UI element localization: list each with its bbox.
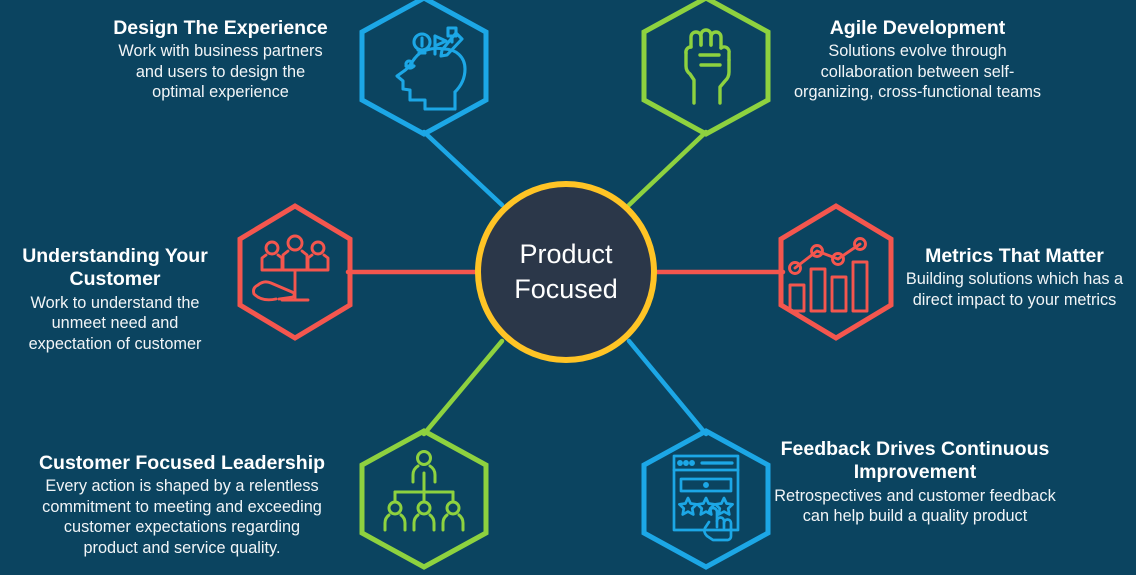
node-description: Building solutions which has a direct im… <box>893 269 1136 310</box>
label-agile-development[interactable]: Agile Development Solutions evolve throu… <box>775 17 1060 103</box>
node-description: Every action is shaped by a relentless c… <box>12 476 352 558</box>
people-in-hand-icon <box>254 236 329 300</box>
node-description: Solutions evolve through collaboration b… <box>775 41 1060 103</box>
hub-label-line-1: Product <box>519 239 613 269</box>
org-chart-icon <box>385 452 463 531</box>
hexagon-metrics-that-matter[interactable] <box>781 206 891 338</box>
connector-feedback-drives-continuous-improvement <box>629 341 706 434</box>
hexagon-outline <box>362 0 486 134</box>
label-understanding-your-customer[interactable]: Understanding Your Customer Work to unde… <box>0 245 230 354</box>
infographic-canvas: Product Focused Design The Experience Wo… <box>0 0 1136 575</box>
label-metrics-that-matter[interactable]: Metrics That Matter Building solutions w… <box>893 245 1136 310</box>
connector-agile-development <box>629 132 706 205</box>
node-title: Customer Focused Leadership <box>12 452 352 475</box>
label-customer-focused-leadership[interactable]: Customer Focused Leadership Every action… <box>12 452 352 559</box>
hub-circle <box>478 184 654 360</box>
hexagon-customer-focused-leadership[interactable] <box>362 431 486 567</box>
hexagon-feedback-drives-continuous-improvement[interactable] <box>644 431 768 567</box>
hub-label-line-2: Focused <box>514 274 618 304</box>
hub-node[interactable]: Product Focused <box>478 184 654 360</box>
raised-fist-icon <box>686 30 729 103</box>
node-description: Work to understand the unmeet need and e… <box>0 293 230 355</box>
hexagon-understanding-your-customer[interactable] <box>240 206 350 338</box>
node-title: Agile Development <box>775 17 1060 40</box>
connector-customer-focused-leadership <box>424 341 502 434</box>
connector-design-the-experience <box>424 132 502 205</box>
label-feedback-drives-continuous-improvement[interactable]: Feedback Drives Continuous Improvement R… <box>760 438 1070 527</box>
bar-chart-trend-icon <box>790 239 868 312</box>
node-title: Design The Experience <box>78 17 363 40</box>
hexagon-design-the-experience[interactable] <box>362 0 486 134</box>
node-title: Understanding Your Customer <box>0 245 230 292</box>
hexagon-agile-development[interactable] <box>644 0 768 134</box>
label-design-the-experience[interactable]: Design The Experience Work with business… <box>78 17 363 103</box>
node-title: Metrics That Matter <box>893 245 1136 268</box>
node-description: Retrospectives and customer feedback can… <box>760 486 1070 527</box>
node-description: Work with business partners and users to… <box>78 41 363 103</box>
head-idea-icon <box>397 28 466 109</box>
node-title: Feedback Drives Continuous Improvement <box>760 438 1070 485</box>
hexagon-outline <box>644 0 768 134</box>
review-rating-icon <box>674 456 738 540</box>
